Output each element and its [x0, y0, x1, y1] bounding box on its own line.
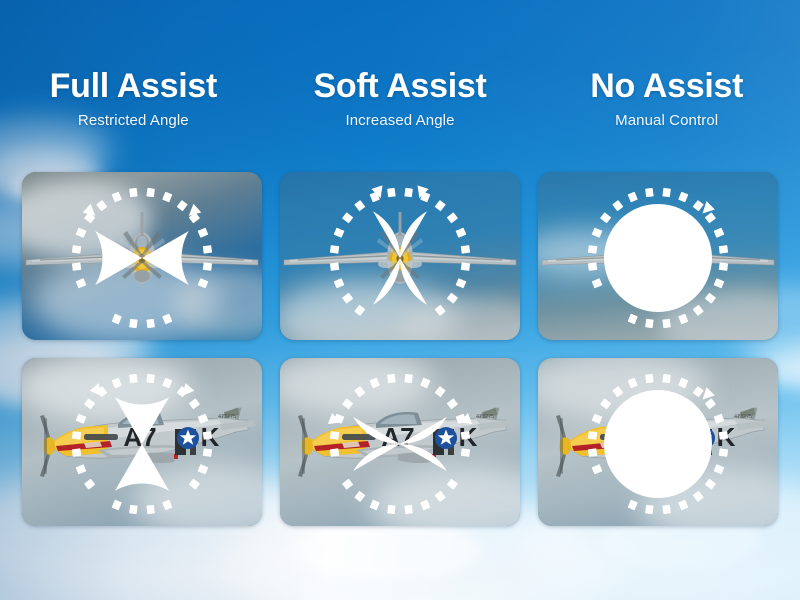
- column-title: Full Assist: [0, 66, 267, 106]
- attitude-dial-pitch: [280, 358, 520, 526]
- column-title: Soft Assist: [267, 66, 534, 106]
- panel-soft-assist-roll[interactable]: [280, 172, 520, 340]
- attitude-dial-roll: [22, 172, 262, 340]
- column-subtitle: Manual Control: [533, 110, 800, 132]
- column-title: No Assist: [533, 66, 800, 106]
- roll-row: [22, 172, 778, 340]
- column-subtitle: Restricted Angle: [0, 110, 267, 132]
- panel-grid: 473275 A7 K: [22, 172, 778, 544]
- panel-full-assist-pitch[interactable]: 473275 A7 K: [22, 358, 262, 526]
- panel-full-assist-roll[interactable]: [22, 172, 262, 340]
- header-no-assist: No Assist Manual Control: [533, 66, 800, 156]
- panel-soft-assist-pitch[interactable]: 473275 A7 K: [280, 358, 520, 526]
- attitude-dial-roll: [280, 172, 520, 340]
- column-subtitle: Increased Angle: [267, 110, 534, 132]
- attitude-dial-roll: [538, 172, 778, 340]
- panel-no-assist-roll[interactable]: [538, 172, 778, 340]
- header-full-assist: Full Assist Restricted Angle: [0, 66, 267, 156]
- attitude-dial-pitch: [22, 358, 262, 526]
- attitude-dial-pitch: [538, 358, 778, 526]
- header-soft-assist: Soft Assist Increased Angle: [267, 66, 534, 156]
- column-headers: Full Assist Restricted Angle Soft Assist…: [0, 66, 800, 156]
- panel-no-assist-pitch[interactable]: 473275 A7 K: [538, 358, 778, 526]
- pitch-row: 473275 A7 K: [22, 358, 778, 526]
